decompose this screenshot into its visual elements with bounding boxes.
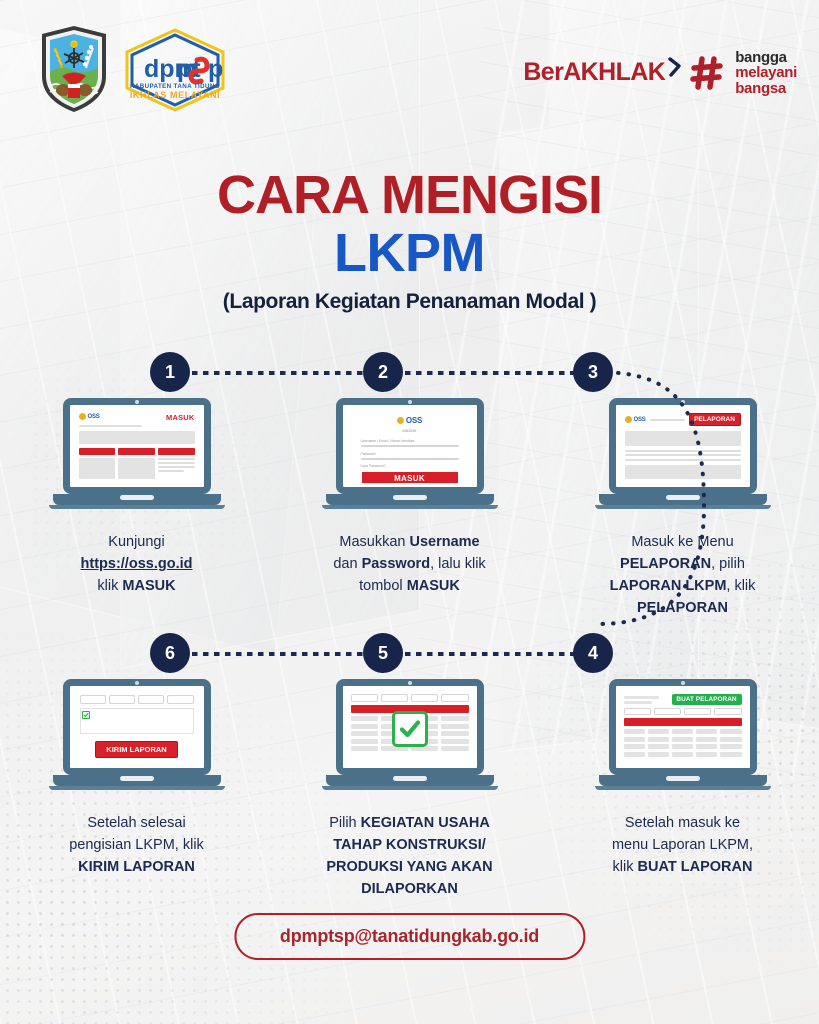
table-tab[interactable] bbox=[441, 694, 468, 702]
svg-text:KABUPATEN TANA TIDUNG: KABUPATEN TANA TIDUNG bbox=[130, 83, 220, 90]
forgot-password-link[interactable]: Lupa Password? bbox=[361, 464, 386, 468]
filter-field[interactable] bbox=[684, 708, 711, 715]
laptop-illustration-5 bbox=[336, 679, 484, 790]
agreement-checkbox[interactable] bbox=[82, 711, 90, 719]
berakhlak-logo: BerAKHLAK bangga melayani bangsa bbox=[523, 50, 797, 96]
masuk-button-screen[interactable]: MASUK bbox=[361, 471, 459, 483]
kirim-laporan-button[interactable]: KIRIM LAPORAN bbox=[95, 741, 177, 758]
steps-row-top: 1 2 3 bbox=[0, 352, 819, 619]
form-tab[interactable] bbox=[80, 695, 106, 704]
step-caption-6: Setelah selesai pengisian LKPM, klik KIR… bbox=[34, 812, 239, 878]
steps-row-bottom: 6 5 4 bbox=[0, 633, 819, 900]
caption-line: Kunjungi bbox=[34, 531, 239, 553]
laptop-illustration-4: BUAT PELAPORAN bbox=[609, 679, 757, 790]
green-checkmark-icon bbox=[392, 711, 428, 747]
table-tab[interactable] bbox=[411, 694, 438, 702]
step-card-5: Pilih KEGIATAN USAHA TAHAP KONSTRUKSI/ P… bbox=[273, 679, 546, 900]
step-card-4: BUAT PELAPORAN bbox=[546, 679, 819, 900]
oss-brand-label: OSS bbox=[88, 414, 100, 420]
login-heading: MASUK bbox=[402, 428, 416, 433]
laptop-illustration-1: OSS MASUK bbox=[63, 398, 211, 509]
hashtag-mark-icon bbox=[689, 53, 727, 93]
password-label: Password bbox=[361, 452, 376, 456]
filter-field[interactable] bbox=[714, 708, 741, 715]
infographic-poster: dpm pt p KABUPATEN TANA TIDUNG IKHLAS ME… bbox=[0, 0, 819, 1024]
username-input[interactable] bbox=[361, 445, 459, 447]
title-subtitle: (Laporan Kegiatan Penanaman Modal ) bbox=[0, 290, 819, 314]
bangga-line-3: bangsa bbox=[735, 81, 797, 96]
svg-text:p: p bbox=[208, 55, 223, 83]
form-tab[interactable] bbox=[167, 695, 193, 704]
contact-email-pill[interactable]: dpmptsp@tanatidungkab.go.id bbox=[234, 913, 585, 960]
step-caption-1: Kunjungi https://oss.go.id klik MASUK bbox=[34, 531, 239, 597]
step-circle-2: 2 bbox=[363, 352, 403, 392]
steps-container: 1 2 3 bbox=[0, 352, 819, 900]
oss-logo-screen-1: OSS bbox=[79, 413, 100, 420]
step-cards-bottom: KIRIM LAPORAN Setelah selesai pengisian … bbox=[0, 633, 819, 900]
kabupaten-tana-tidung-crest-icon bbox=[38, 24, 110, 114]
buat-pelaporan-button[interactable]: BUAT PELAPORAN bbox=[672, 694, 742, 705]
caption-line: klik MASUK bbox=[34, 575, 239, 597]
header: dpm pt p KABUPATEN TANA TIDUNG IKHLAS ME… bbox=[0, 0, 819, 140]
filter-field[interactable] bbox=[624, 708, 651, 715]
step-caption-4: Setelah masuk ke menu Laporan LKPM, klik… bbox=[580, 812, 785, 878]
table-tab[interactable] bbox=[351, 694, 378, 702]
screen-masuk-link[interactable]: MASUK bbox=[166, 413, 195, 422]
step-circle-4: 4 bbox=[573, 633, 613, 673]
step-circle-5: 5 bbox=[363, 633, 403, 673]
form-tab[interactable] bbox=[138, 695, 164, 704]
step-circle-6: 6 bbox=[150, 633, 190, 673]
table-tab[interactable] bbox=[381, 694, 408, 702]
title-line-2: LKPM bbox=[0, 225, 819, 282]
username-label: Username / Email / Nomor Identitas bbox=[361, 439, 415, 443]
step-caption-2: Masukkan Username dan Password, lalu kli… bbox=[307, 531, 512, 597]
table-header-row bbox=[624, 718, 742, 726]
step-card-2: OSS MASUK Username / Email / Nomor Ident… bbox=[273, 398, 546, 619]
connector-3-4-curve bbox=[592, 366, 722, 638]
title-line-1: CARA MENGISI bbox=[0, 168, 819, 223]
oss-url-link[interactable]: https://oss.go.id bbox=[34, 553, 239, 575]
oss-brand-label: OSS bbox=[406, 416, 422, 425]
form-tab[interactable] bbox=[109, 695, 135, 704]
step-circle-3: 3 bbox=[573, 352, 613, 392]
dpmptsp-logo: dpm pt p KABUPATEN TANA TIDUNG IKHLAS ME… bbox=[120, 28, 230, 112]
laptop-illustration-6: KIRIM LAPORAN bbox=[63, 679, 211, 790]
bangga-line-2: melayani bbox=[735, 65, 797, 80]
step-card-6: KIRIM LAPORAN Setelah selesai pengisian … bbox=[0, 679, 273, 900]
bangga-line-1: bangga bbox=[735, 50, 797, 65]
oss-logo-screen-2: OSS bbox=[397, 416, 422, 425]
bangga-melayani-bangsa-text: bangga melayani bangsa bbox=[735, 50, 797, 96]
svg-text:IKHLAS MELAYANI: IKHLAS MELAYANI bbox=[130, 90, 220, 100]
laptop-illustration-2: OSS MASUK Username / Email / Nomor Ident… bbox=[336, 398, 484, 509]
berakhlak-wordmark: BerAKHLAK bbox=[523, 58, 665, 87]
poster-title-block: CARA MENGISI LKPM (Laporan Kegiatan Pena… bbox=[0, 168, 819, 314]
step-card-1: OSS MASUK bbox=[0, 398, 273, 619]
step-circle-1: 1 bbox=[150, 352, 190, 392]
filter-field[interactable] bbox=[654, 708, 681, 715]
step-caption-5: Pilih KEGIATAN USAHA TAHAP KONSTRUKSI/ P… bbox=[307, 812, 512, 900]
chevron-right-icon bbox=[667, 56, 683, 78]
password-input[interactable] bbox=[361, 458, 459, 460]
